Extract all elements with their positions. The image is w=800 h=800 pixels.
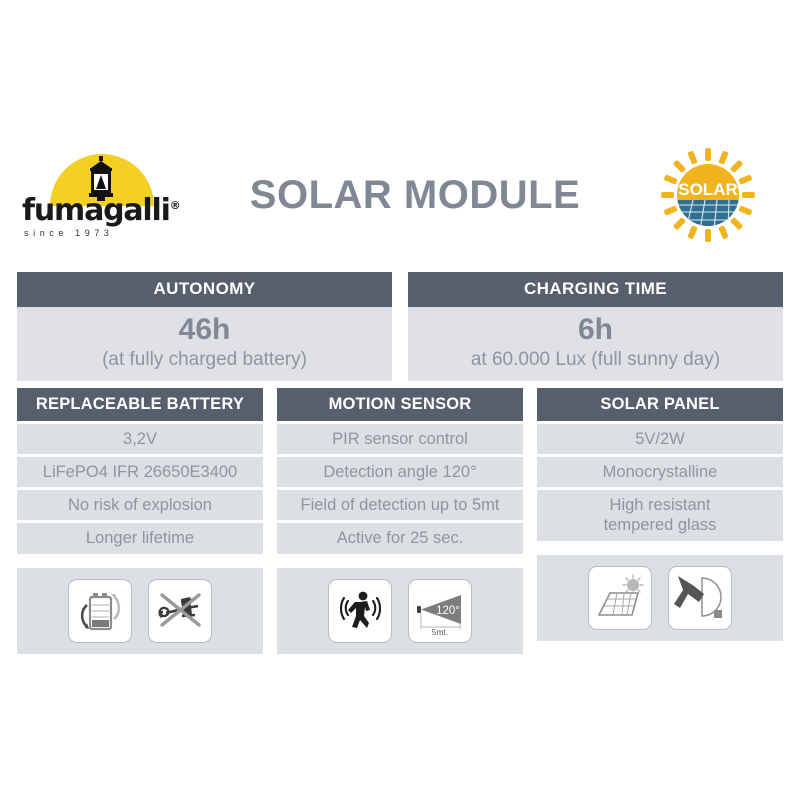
- feature-column-replaceable-battery: REPLACEABLE BATTERY 3,2V LiFePO4 IFR 266…: [17, 388, 263, 654]
- stat-panel-charging-time: CHARGING TIME 6h at 60.000 Lux (full sun…: [408, 272, 783, 381]
- icon-tile: [588, 566, 652, 630]
- column-row: LiFePO4 IFR 26650E3400: [17, 457, 263, 487]
- solar-badge: SOLAR: [638, 147, 778, 243]
- column-heading-replaceable-battery: REPLACEABLE BATTERY: [17, 388, 263, 421]
- solar-badge-label: SOLAR: [678, 180, 738, 199]
- solar-sun-panel-badge-icon: SOLAR: [660, 147, 756, 243]
- logo-wordmark-text: fumagalli: [22, 193, 170, 228]
- stat-heading-autonomy: AUTONOMY: [17, 272, 392, 307]
- column-row: PIR sensor control: [277, 424, 523, 454]
- stat-note-charging-time: at 60.000 Lux (full sunny day): [408, 348, 783, 372]
- fumagalli-logo: fumagalli® since 1973: [22, 148, 182, 243]
- feature-column-motion-sensor: MOTION SENSOR PIR sensor control Detecti…: [277, 388, 523, 654]
- column-icon-strip-battery: [17, 568, 263, 654]
- icon-tile: 120° 5mt.: [408, 579, 472, 643]
- stats-row: AUTONOMY 46h (at fully charged battery) …: [17, 272, 783, 381]
- column-row: Detection angle 120°: [277, 457, 523, 487]
- detection-cone-icon: 120° 5mt.: [414, 585, 466, 637]
- column-icon-strip-motion: 120° 5mt.: [277, 568, 523, 654]
- column-row: High resistant tempered glass: [537, 490, 783, 540]
- stat-value-charging-time: 6h: [408, 313, 783, 348]
- icon-tile: [328, 579, 392, 643]
- logo-wordmark: fumagalli®: [22, 196, 182, 226]
- column-row: Field of detection up to 5mt: [277, 490, 523, 520]
- stat-value-autonomy: 46h: [17, 313, 392, 348]
- stat-heading-charging-time: CHARGING TIME: [408, 272, 783, 307]
- stat-panel-autonomy: AUTONOMY 46h (at fully charged battery): [17, 272, 392, 381]
- column-row: Longer lifetime: [17, 523, 263, 553]
- stat-body-charging-time: 6h at 60.000 Lux (full sunny day): [408, 307, 783, 381]
- detection-angle-label: 120°: [436, 605, 460, 617]
- feature-columns: REPLACEABLE BATTERY 3,2V LiFePO4 IFR 266…: [17, 388, 783, 654]
- solar-panel-sun-icon: [594, 572, 646, 624]
- column-heading-motion-sensor: MOTION SENSOR: [277, 388, 523, 421]
- column-row: No risk of explosion: [17, 490, 263, 520]
- icon-tile: [68, 579, 132, 643]
- logo-registered-mark: ®: [170, 199, 180, 212]
- column-row: 3,2V: [17, 424, 263, 454]
- page-title: SOLAR MODULE: [192, 173, 638, 218]
- column-row: Monocrystalline: [537, 457, 783, 487]
- column-row: 5V/2W: [537, 424, 783, 454]
- icon-tile: [148, 579, 212, 643]
- badge-panel-area: [677, 200, 739, 230]
- feature-column-solar-panel: SOLAR PANEL 5V/2W Monocrystalline High r…: [537, 388, 783, 654]
- replaceable-battery-icon: [74, 585, 126, 637]
- stat-body-autonomy: 46h (at fully charged battery): [17, 307, 392, 381]
- detection-distance-label: 5mt.: [432, 627, 449, 637]
- logo-tagline: since 1973: [24, 228, 174, 238]
- column-row: Active for 25 sec.: [277, 523, 523, 553]
- hammer-impact-glass-icon: [674, 572, 726, 624]
- page-header: fumagalli® since 1973 SOLAR MODULE: [0, 140, 800, 250]
- motion-person-icon: [334, 585, 386, 637]
- stat-note-autonomy: (at fully charged battery): [17, 348, 392, 372]
- column-heading-solar-panel: SOLAR PANEL: [537, 388, 783, 421]
- column-icon-strip-solar: [537, 555, 783, 641]
- icon-tile: [668, 566, 732, 630]
- no-wiring-icon: [154, 585, 206, 637]
